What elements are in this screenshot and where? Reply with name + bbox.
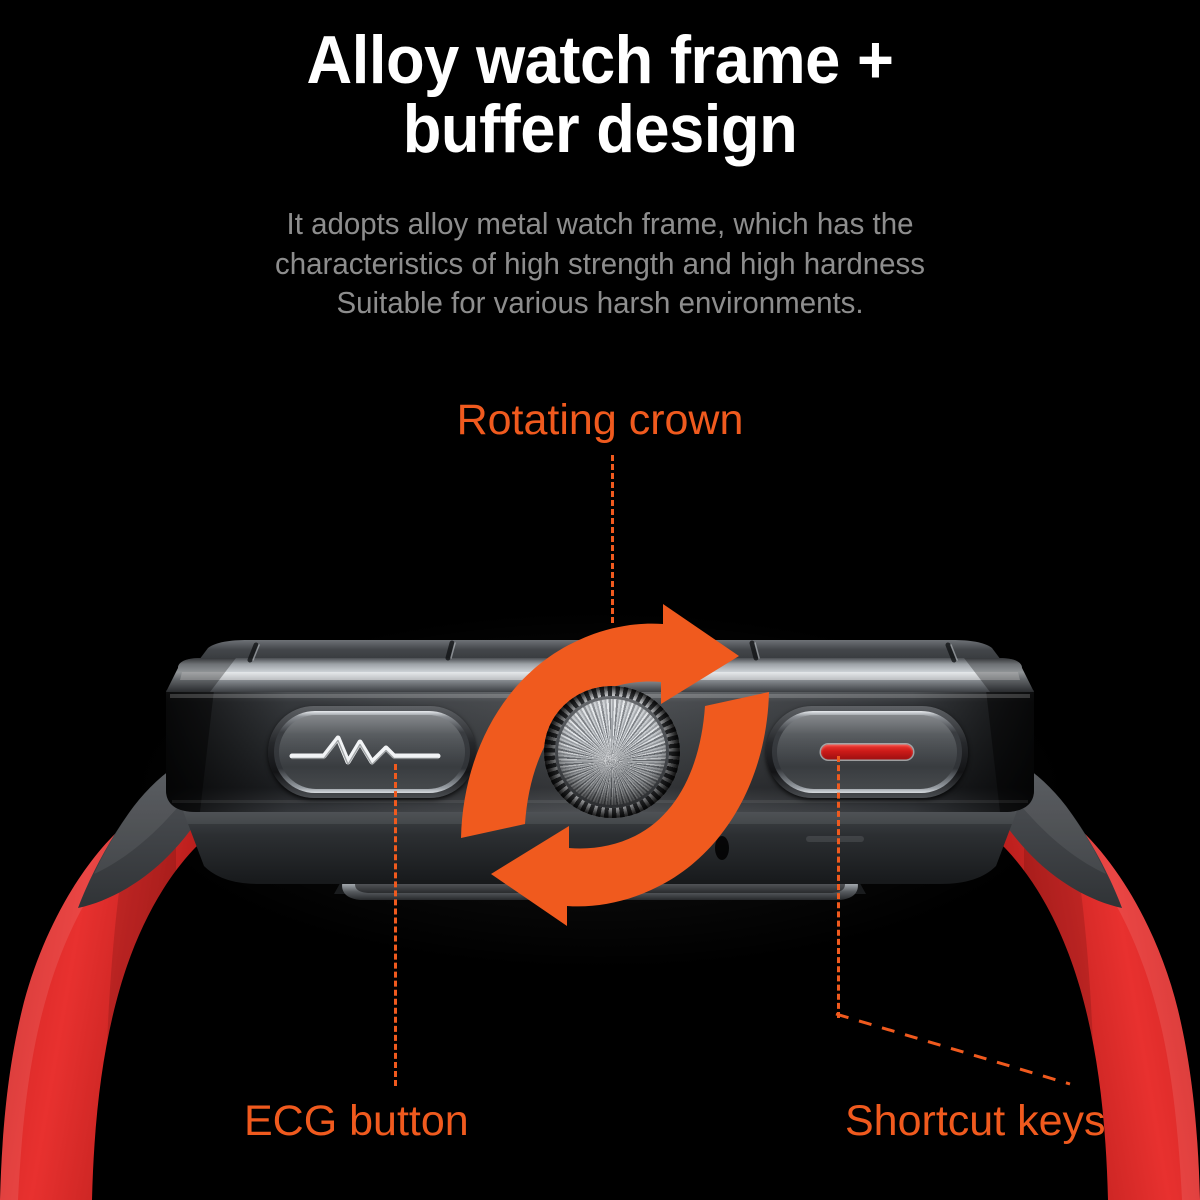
subcopy-line-1: It adopts alloy metal watch frame, which…: [30, 204, 1170, 244]
leader-line-shortcut-vertical: [837, 756, 840, 1018]
subcopy-line-2: characteristics of high strength and hig…: [30, 244, 1170, 284]
rotating-crown[interactable]: [544, 686, 680, 818]
ecg-button[interactable]: [268, 706, 476, 798]
headline-line-2: buffer design: [42, 95, 1158, 164]
watch-lug-buffer-right: [968, 742, 1122, 908]
shortcut-key-button[interactable]: [766, 706, 968, 798]
watch-lug-buffer-left: [78, 742, 232, 908]
subcopy-line-3: Suitable for various harsh environments.: [30, 283, 1170, 323]
ecg-waveform-icon: [290, 728, 440, 772]
red-bar-icon: [821, 745, 913, 760]
callout-ecg-button: ECG button: [244, 1097, 469, 1146]
callout-shortcut-keys: Shortcut keys: [845, 1097, 1106, 1146]
product-feature-slide: Alloy watch frame + buffer design It ado…: [0, 0, 1200, 1200]
page-description: It adopts alloy metal watch frame, which…: [30, 204, 1170, 323]
page-title: Alloy watch frame + buffer design: [42, 26, 1158, 165]
headline-line-1: Alloy watch frame +: [42, 26, 1158, 95]
crown-face-shading: [555, 696, 669, 808]
leader-line-shortcut-diagonal: [832, 1010, 1074, 1088]
watch-strap-left: [0, 806, 228, 1200]
leader-line-crown: [611, 455, 614, 623]
callout-rotating-crown: Rotating crown: [0, 396, 1200, 445]
leader-line-ecg: [394, 764, 397, 1086]
